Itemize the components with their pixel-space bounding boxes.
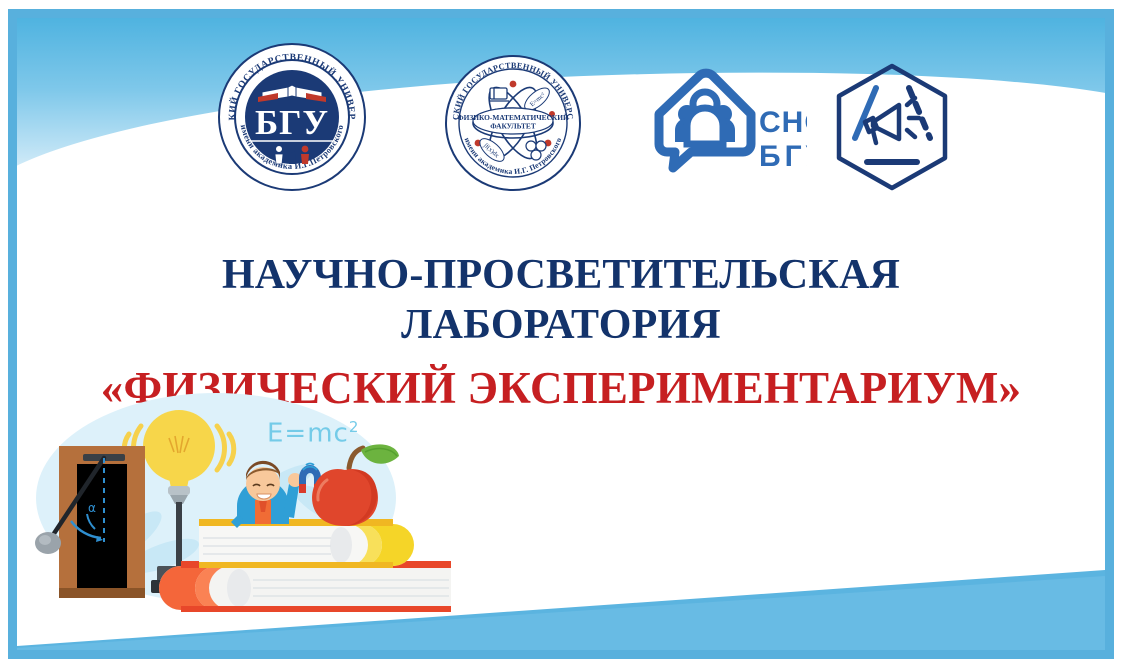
logo-sno-bgu: СНО БГУ <box>647 62 807 192</box>
page-title-line-1: НАУЧНО-ПРОСВЕТИТЕЛЬСКАЯ <box>17 250 1105 300</box>
svg-text:ФАКУЛЬТЕТ: ФАКУЛЬТЕТ <box>490 122 536 131</box>
physics-illustration: α <box>31 388 451 638</box>
svg-text:БГУ: БГУ <box>255 103 329 142</box>
svg-text:α: α <box>88 501 96 515</box>
page-title-line-2: ЛАБОРАТОРИЯ <box>17 300 1105 350</box>
emc-formula: E=mc2 <box>267 418 359 449</box>
svg-text:БГУ: БГУ <box>759 140 807 173</box>
poster-frame: БРЯНСКИЙ ГОСУДАРСТВЕННЫЙ УНИВЕРСИТЕТ име… <box>8 9 1114 659</box>
emc-exponent: 2 <box>349 418 360 436</box>
logo-fizmat-seal: БРЯНСКИЙ ГОСУДАРСТВЕННЫЙ УНИВЕРСИТЕТ име… <box>444 54 582 192</box>
poster-root: БРЯНСКИЙ ГОСУДАРСТВЕННЫЙ УНИВЕРСИТЕТ име… <box>0 0 1122 667</box>
logo-megaphone-hex <box>829 60 955 194</box>
logo-row: БРЯНСКИЙ ГОСУДАРСТВЕННЫЙ УНИВЕРСИТЕТ име… <box>17 32 1105 192</box>
emc-base: E=mc <box>267 419 349 449</box>
svg-text:СНО: СНО <box>759 106 807 139</box>
logo-bgu-seal: БРЯНСКИЙ ГОСУДАРСТВЕННЫЙ УНИВЕРСИТЕТ име… <box>217 42 367 192</box>
